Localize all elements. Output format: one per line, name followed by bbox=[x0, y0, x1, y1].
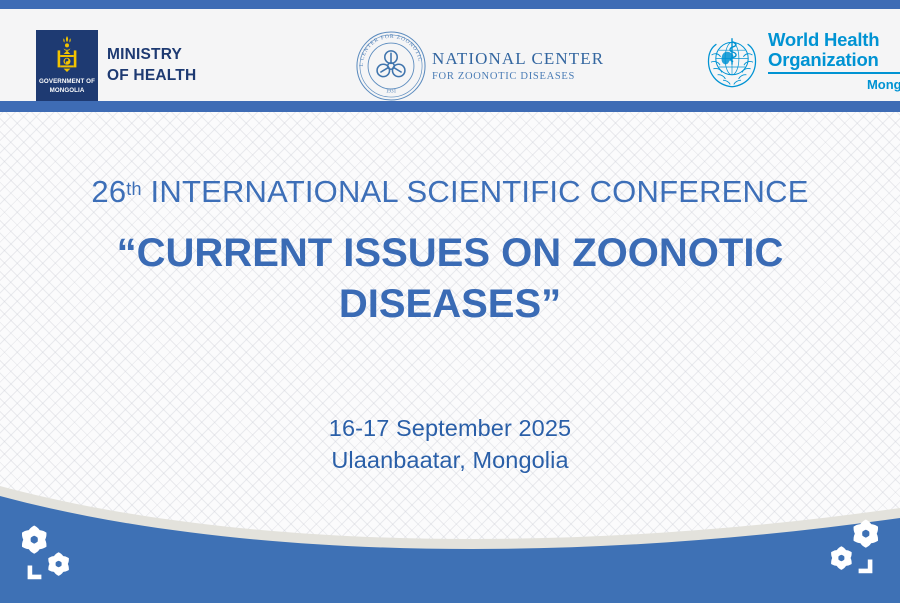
national-center-logo: NATIONAL CENTER FOR ZOONOTIC DISEASES 19… bbox=[354, 29, 604, 103]
event-location: Ulaanbaatar, Mongolia bbox=[0, 444, 900, 476]
national-center-name-line2: FOR ZOONOTIC DISEASES bbox=[432, 71, 604, 84]
mongolia-state-emblem: GOVERNMENT OF MONGOLIA bbox=[36, 30, 98, 101]
zoonotic-seal-icon: NATIONAL CENTER FOR ZOONOTIC DISEASES 19… bbox=[354, 29, 428, 103]
title-block: 26th INTERNATIONAL SCIENTIFIC CONFERENCE… bbox=[0, 175, 900, 330]
ministry-name-line1: MINISTRY bbox=[107, 45, 196, 66]
event-date: 16-17 September 2025 bbox=[0, 412, 900, 444]
who-underline-rule bbox=[768, 72, 900, 74]
ministry-of-health-name: MINISTRY OF HEALTH bbox=[107, 45, 196, 87]
conference-heading: 26th INTERNATIONAL SCIENTIFIC CONFERENCE bbox=[0, 175, 900, 209]
conference-title-slide: GOVERNMENT OF MONGOLIA MINISTRY OF HEALT… bbox=[0, 0, 900, 603]
ministry-name-line2: OF HEALTH bbox=[107, 66, 196, 87]
header-separator-bar bbox=[0, 101, 900, 112]
who-wordmark: World Health Organization Mongolia bbox=[768, 30, 900, 92]
event-details: 16-17 September 2025 Ulaanbaatar, Mongol… bbox=[0, 412, 900, 476]
svg-text:1931: 1931 bbox=[386, 89, 397, 95]
who-logo: World Health Organization Mongolia bbox=[702, 30, 900, 92]
conference-theme-title: “CURRENT ISSUES ON ZOONOTIC DISEASES” bbox=[0, 228, 900, 330]
conference-number: 26 bbox=[91, 174, 126, 209]
who-emblem-icon bbox=[702, 31, 762, 91]
soyombo-icon bbox=[36, 34, 98, 80]
who-title-line2: Organization bbox=[768, 50, 900, 70]
national-center-name-line1: NATIONAL CENTER bbox=[432, 49, 604, 69]
conference-ordinal: th bbox=[126, 179, 141, 199]
ministry-of-health-logo: GOVERNMENT OF MONGOLIA MINISTRY OF HEALT… bbox=[36, 30, 196, 101]
emblem-caption-mongolia: MONGOLIA bbox=[36, 88, 98, 94]
triquetra-knot-ornament-right bbox=[814, 515, 886, 581]
top-accent-bar bbox=[0, 0, 900, 9]
national-center-name: NATIONAL CENTER FOR ZOONOTIC DISEASES bbox=[432, 49, 604, 84]
who-title-line1: World Health bbox=[768, 30, 900, 50]
svg-text:NATIONAL CENTER FOR ZOONOTIC D: NATIONAL CENTER FOR ZOONOTIC DISEASES bbox=[354, 29, 423, 67]
who-country-label: Mongolia bbox=[768, 77, 900, 92]
bottom-wave-decoration bbox=[0, 478, 900, 603]
emblem-caption-government: GOVERNMENT OF bbox=[36, 79, 98, 85]
triquetra-knot-ornament-left bbox=[14, 521, 86, 587]
header-logo-band: GOVERNMENT OF MONGOLIA MINISTRY OF HEALT… bbox=[0, 9, 900, 101]
conference-label: INTERNATIONAL SCIENTIFIC CONFERENCE bbox=[151, 174, 809, 209]
